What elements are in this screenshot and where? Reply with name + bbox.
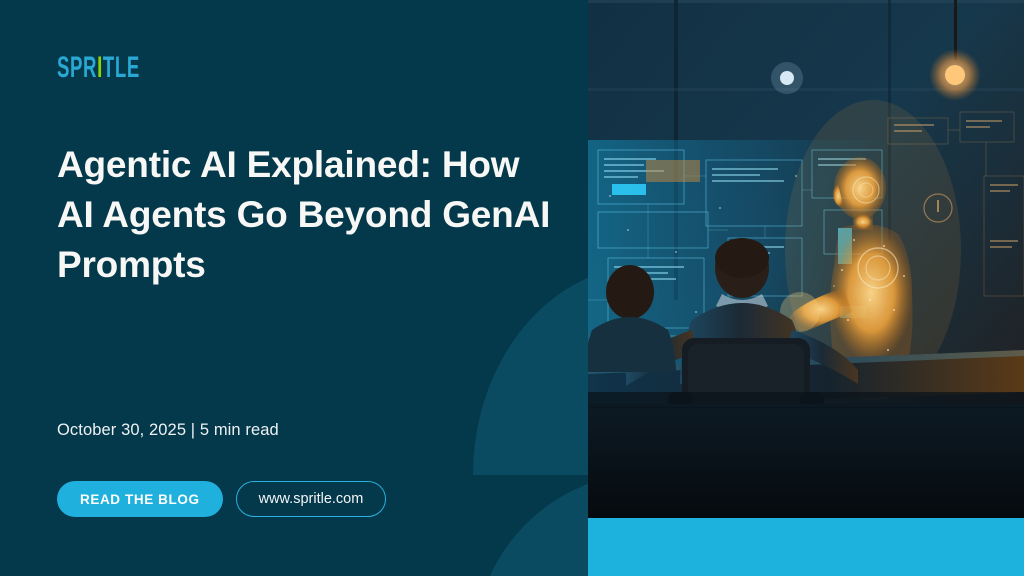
decorative-arc-top [473, 265, 588, 475]
footer-accent-bar [588, 518, 1024, 576]
cta-button-row: READ THE BLOG www.spritle.com [57, 481, 386, 517]
pendant-light-bulb [945, 65, 965, 85]
page-title: Agentic AI Explained: How AI Agents Go B… [57, 140, 557, 290]
holo-highlight-chip [612, 184, 646, 195]
blog-promo-card: SPRITLE Agentic AI Explained: How AI Age… [0, 0, 1024, 576]
hero-image-illustration [588, 0, 1024, 518]
logo-segment-spr: SPR [57, 51, 97, 84]
logo-segment-tle: TLE [103, 51, 140, 84]
website-link-button[interactable]: www.spritle.com [236, 481, 387, 517]
decorative-arc-bottom [473, 473, 588, 576]
spritle-logo[interactable]: SPRITLE [57, 53, 140, 83]
holo-amber-chip [646, 160, 700, 182]
hero-image [588, 0, 1024, 518]
left-content-panel: SPRITLE Agentic AI Explained: How AI Age… [0, 0, 588, 576]
read-the-blog-button[interactable]: READ THE BLOG [57, 481, 223, 517]
post-meta: October 30, 2025 | 5 min read [57, 421, 279, 440]
floor [588, 404, 1024, 518]
